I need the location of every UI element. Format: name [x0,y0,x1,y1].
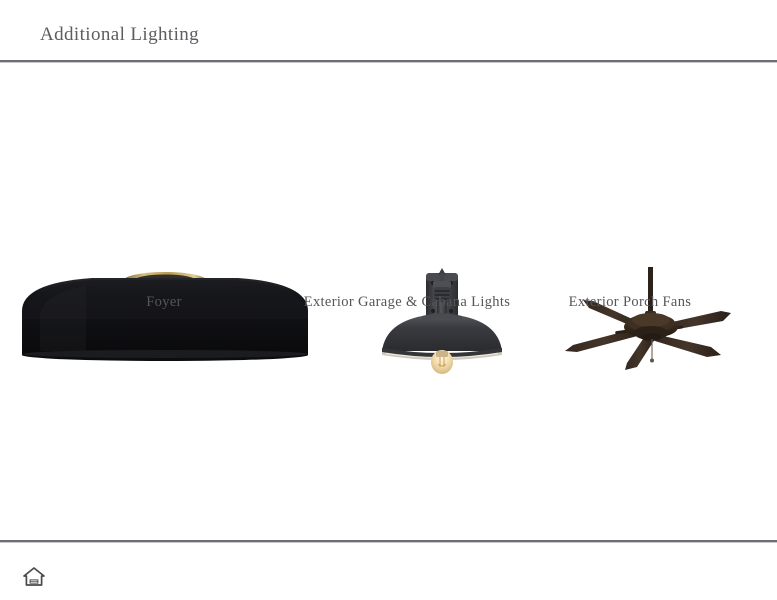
outdoor-ceiling-fan-icon [555,267,777,367]
page-footer [0,540,777,600]
equal-housing-opportunity-logo-icon [23,566,45,588]
product-caption-foyer: Foyer [64,294,264,311]
footer-divider [0,540,777,542]
product-caption-garage-cabana-lights: Exterior Garage & Cabana Lights [296,294,518,311]
product-caption-porch-fans: Exterior Porch Fans [530,294,730,311]
page-header: Additional Lighting [0,0,777,62]
main-content: Foyer Exterior Garage & Cabana Lights Ex… [0,62,777,540]
barn-wall-sconce-light-icon [330,267,555,367]
page-title: Additional Lighting [40,24,199,46]
flush-mount-dome-ceiling-light-icon [0,267,330,367]
